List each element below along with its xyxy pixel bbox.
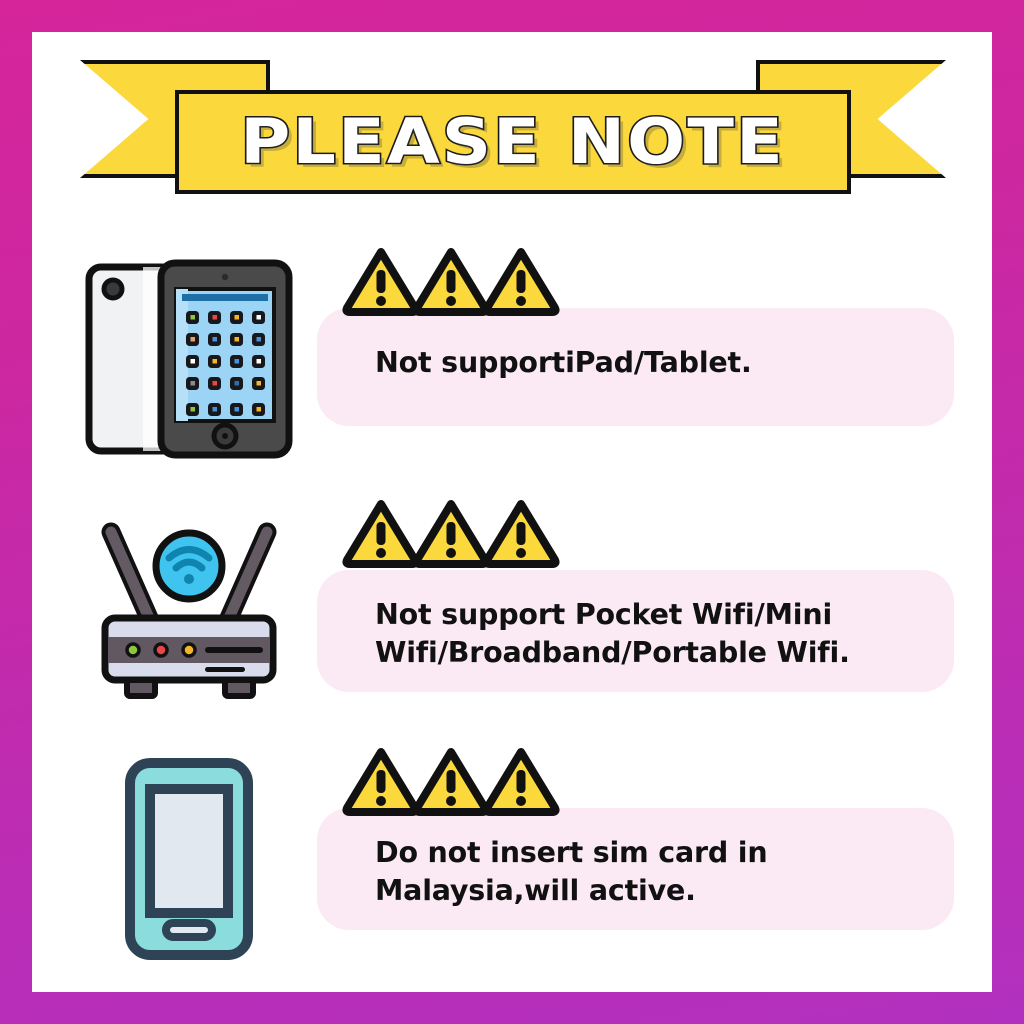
warning-triangle-icon — [483, 246, 559, 316]
warning-triangle-icon — [413, 746, 489, 816]
phone-icon-wrap — [74, 746, 304, 971]
note-box-tablet: Not supportiPad/Tablet. — [317, 308, 954, 426]
warning-icons-phone — [343, 746, 553, 816]
note-text-router: Not support Pocket Wifi/Mini Wifi/Broadb… — [375, 596, 954, 672]
tablet-icon-wrap — [74, 246, 304, 471]
warning-icons-tablet — [343, 246, 553, 316]
router-icon-wrap — [74, 498, 304, 723]
banner-ribbon: PLEASE NOTE — [80, 60, 946, 220]
note-text-tablet: Not supportiPad/Tablet. — [375, 344, 954, 382]
warning-triangle-icon — [483, 498, 559, 568]
warning-icons-router — [343, 498, 553, 568]
note-text-phone: Do not insert sim card in Malaysia,will … — [375, 834, 954, 910]
poster-root: PLEASE NOTE — [0, 0, 1024, 1024]
warning-triangle-icon — [343, 746, 419, 816]
ribbon-main-panel: PLEASE NOTE — [175, 90, 851, 194]
note-box-router: Not support Pocket Wifi/Mini Wifi/Broadb… — [317, 570, 954, 692]
smartphone-icon — [119, 755, 259, 963]
poster-card: PLEASE NOTE — [32, 32, 992, 992]
warning-triangle-icon — [413, 498, 489, 568]
note-row-phone: Do not insert sim card in Malaysia,will … — [32, 746, 992, 971]
note-row-router: Not support Pocket Wifi/Mini Wifi/Broadb… — [32, 498, 992, 723]
warning-triangle-icon — [483, 746, 559, 816]
note-body-tablet: Not supportiPad/Tablet. — [317, 246, 967, 471]
note-body-phone: Do not insert sim card in Malaysia,will … — [317, 746, 967, 971]
warning-triangle-icon — [343, 498, 419, 568]
note-row-tablet: Not supportiPad/Tablet. — [32, 246, 992, 471]
wifi-router-icon — [89, 522, 289, 700]
warning-triangle-icon — [413, 246, 489, 316]
page-title: PLEASE NOTE — [241, 111, 786, 173]
note-box-phone: Do not insert sim card in Malaysia,will … — [317, 808, 954, 930]
tablet-icon — [83, 261, 295, 457]
warning-triangle-icon — [343, 246, 419, 316]
note-body-router: Not support Pocket Wifi/Mini Wifi/Broadb… — [317, 498, 967, 723]
